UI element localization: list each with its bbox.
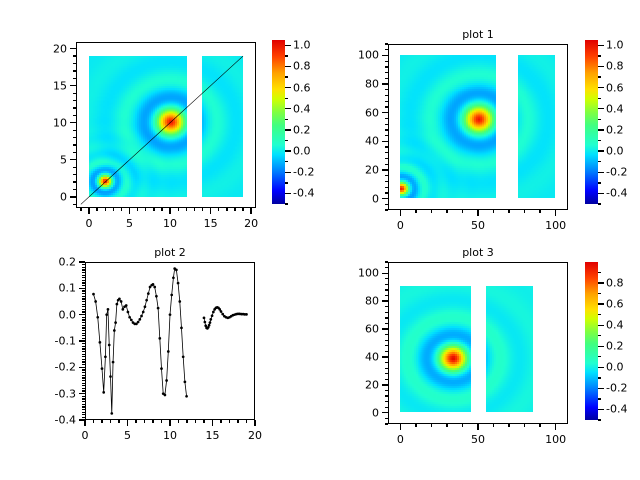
xtick-minor-bottom_right: [462, 424, 463, 427]
ytick-minor-bottom_left: [82, 301, 85, 302]
ytick-major-top_left: [70, 122, 76, 123]
ytick-minor-top_left: [73, 107, 76, 108]
xtick-major-bottom_left: [254, 420, 255, 426]
ytick-major-top_right: [382, 198, 388, 199]
ytick-minor-top_right: [385, 175, 388, 176]
ytick-minor-top_right: [385, 95, 388, 96]
ytick-minor-top_right: [385, 152, 388, 153]
xtick-label-bottom_left: 15: [206, 429, 220, 442]
axes-frame-bottom_left: [85, 262, 255, 420]
xtick-minor-bottom_right: [415, 424, 416, 427]
ytick-label-bottom_right: 100: [358, 267, 379, 280]
ytick-label-bottom_left: -0.2: [55, 361, 76, 374]
ytick-major-bottom_right: [382, 328, 388, 329]
ytick-minor-top_right: [385, 135, 388, 136]
ytick-minor-bottom_left: [82, 383, 85, 384]
ytick-minor-bottom_left: [82, 409, 85, 410]
ytick-minor-top_right: [385, 49, 388, 50]
ytick-minor-top_right: [385, 146, 388, 147]
ytick-minor-bottom_left: [82, 272, 85, 273]
ytick-minor-bottom_right: [385, 295, 388, 296]
xtick-minor-bottom_left: [220, 420, 221, 423]
xtick-minor-top_left: [121, 208, 122, 211]
colorbar-tick-minor-bottom_right: [598, 398, 601, 399]
ytick-label-bottom_left: -0.4: [55, 414, 76, 427]
ytick-major-top_left: [70, 159, 76, 160]
ytick-label-bottom_right: 40: [365, 350, 379, 363]
ytick-minor-top_left: [73, 204, 76, 205]
ytick-minor-top_right: [385, 158, 388, 159]
ytick-minor-bottom_left: [82, 385, 85, 386]
colorbar-tick-top_left: [285, 150, 291, 151]
ytick-minor-top_left: [73, 152, 76, 153]
xtick-minor-bottom_right: [539, 424, 540, 427]
image-block-top_left: [202, 56, 243, 197]
ytick-label-top_left: 15: [53, 79, 67, 92]
panel-title-bottom_left: plot 2: [85, 246, 255, 259]
ytick-minor-bottom_left: [82, 346, 85, 347]
colorbar-tick-bottom_right: [598, 367, 604, 368]
xtick-minor-top_left: [194, 208, 195, 211]
image-block-bottom_right: [486, 286, 533, 412]
pseudocolor-image: [400, 55, 496, 198]
colorbar-tick-minor-top_right: [598, 140, 601, 141]
ytick-minor-bottom_right: [385, 306, 388, 307]
colorbar-tick-minor-top_left: [285, 119, 288, 120]
ytick-minor-top_right: [385, 181, 388, 182]
colorbar-tick-top_left: [285, 129, 291, 130]
xtick-label-top_right: 50: [471, 219, 485, 232]
xtick-minor-top_right: [524, 210, 525, 213]
panel-title-bottom_right: plot 3: [388, 246, 568, 259]
ytick-minor-bottom_right: [385, 368, 388, 369]
ytick-minor-bottom_left: [82, 304, 85, 305]
ytick-minor-top_left: [73, 93, 76, 94]
colorbar-label-bottom_right: -0.4: [606, 403, 627, 416]
ytick-major-top_right: [382, 55, 388, 56]
xtick-minor-bottom_left: [144, 420, 145, 423]
ytick-minor-bottom_right: [385, 401, 388, 402]
ytick-minor-bottom_left: [82, 327, 85, 328]
ytick-minor-top_right: [385, 89, 388, 90]
ytick-label-bottom_left: -0.3: [55, 387, 76, 400]
colorbar-label-top_left: -0.2: [293, 166, 314, 179]
colorbar-tick-minor-top_left: [285, 203, 288, 204]
ytick-major-top_right: [382, 83, 388, 84]
ytick-minor-top_left: [73, 55, 76, 56]
xtick-minor-bottom_left: [178, 420, 179, 423]
ytick-label-bottom_right: 0: [372, 406, 379, 419]
colorbar-tick-top_left: [285, 66, 291, 67]
xtick-major-top_left: [169, 208, 170, 214]
ytick-label-top_right: 100: [358, 49, 379, 62]
colorbar-label-top_left: 0.8: [293, 60, 311, 73]
colorbar-tick-top_left: [285, 108, 291, 109]
ytick-minor-bottom_right: [385, 390, 388, 391]
colorbar-label-bottom_right: 0.2: [606, 340, 624, 353]
xtick-minor-top_left: [145, 208, 146, 211]
ytick-minor-top_left: [73, 130, 76, 131]
colorbar-tick-top_right: [598, 193, 604, 194]
ytick-minor-top_right: [385, 101, 388, 102]
colorbar-tick-top_right: [598, 129, 604, 130]
xtick-minor-bottom_left: [237, 420, 238, 423]
ytick-minor-top_right: [385, 43, 388, 44]
xtick-minor-top_right: [462, 210, 463, 213]
ytick-minor-bottom_left: [82, 359, 85, 360]
colorbar-tick-top_left: [285, 87, 291, 88]
colorbar-tick-top_left: [285, 172, 291, 173]
colorbar-tick-minor-bottom_right: [598, 356, 601, 357]
ytick-minor-bottom_left: [82, 280, 85, 281]
xtick-minor-top_right: [493, 210, 494, 213]
xtick-minor-bottom_left: [161, 420, 162, 423]
xtick-major-top_right: [400, 210, 401, 216]
colorbar-tick-bottom_right: [598, 303, 604, 304]
colorbar-tick-minor-top_left: [285, 76, 288, 77]
xtick-minor-bottom_left: [152, 420, 153, 423]
ytick-label-bottom_right: 20: [365, 378, 379, 391]
ytick-minor-top_right: [385, 72, 388, 73]
ytick-minor-bottom_right: [385, 423, 388, 424]
ytick-minor-bottom_left: [82, 309, 85, 310]
pseudocolor-image: [400, 286, 471, 412]
ytick-minor-bottom_left: [82, 398, 85, 399]
colorbar-label-top_right: 1.0: [606, 39, 624, 52]
ytick-major-top_left: [70, 48, 76, 49]
colorbar-tick-bottom_right: [598, 409, 604, 410]
colorbar-tick-minor-top_right: [598, 203, 601, 204]
colorbar-tick-bottom_right: [598, 325, 604, 326]
colorbar-label-top_right: 0.8: [606, 60, 624, 73]
colorbar-tick-minor-bottom_right: [598, 335, 601, 336]
ytick-minor-bottom_left: [82, 401, 85, 402]
colorbar-label-bottom_right: 0.0: [606, 361, 624, 374]
ytick-label-top_left: 0: [60, 190, 67, 203]
colorbar-tick-top_right: [598, 172, 604, 173]
ytick-minor-top_left: [73, 174, 76, 175]
xtick-minor-top_left: [113, 208, 114, 211]
xtick-minor-bottom_left: [101, 420, 102, 423]
colorbar-tick-minor-bottom_right: [598, 377, 601, 378]
xtick-minor-top_left: [137, 208, 138, 211]
colorbar-tick-minor-bottom_right: [598, 272, 601, 273]
xtick-label-bottom_left: 5: [124, 429, 131, 442]
ytick-minor-top_left: [73, 167, 76, 168]
ytick-minor-bottom_left: [82, 377, 85, 378]
ytick-minor-bottom_left: [82, 317, 85, 318]
xtick-minor-bottom_right: [508, 424, 509, 427]
xtick-label-top_left: 20: [244, 217, 258, 230]
xtick-minor-top_left: [96, 208, 97, 211]
xtick-minor-top_right: [539, 210, 540, 213]
colorbar-label-bottom_right: 0.8: [606, 277, 624, 290]
colorbar-tick-top_left: [285, 45, 291, 46]
colorbar-label-top_left: 1.0: [293, 39, 311, 52]
colorbar-tick-minor-top_right: [598, 98, 601, 99]
ytick-minor-top_right: [385, 187, 388, 188]
colorbar-tick-minor-top_left: [285, 98, 288, 99]
xtick-minor-bottom_right: [446, 424, 447, 427]
xtick-major-bottom_left: [212, 420, 213, 426]
pseudocolor-image: [486, 286, 533, 412]
ytick-minor-bottom_left: [82, 338, 85, 339]
ytick-minor-bottom_left: [82, 298, 85, 299]
ytick-minor-bottom_left: [82, 293, 85, 294]
xtick-label-bottom_left: 0: [82, 429, 89, 442]
ytick-label-top_right: 40: [365, 135, 379, 148]
colorbar-top_right: [585, 40, 598, 204]
ytick-minor-bottom_right: [385, 323, 388, 324]
ytick-label-bottom_left: -0.1: [55, 335, 76, 348]
colorbar-tick-bottom_right: [598, 346, 604, 347]
ytick-minor-bottom_left: [82, 277, 85, 278]
ytick-minor-bottom_right: [385, 340, 388, 341]
xtick-label-top_left: 15: [204, 217, 218, 230]
ytick-label-bottom_right: 60: [365, 323, 379, 336]
colorbar-label-top_right: 0.2: [606, 123, 624, 136]
ytick-minor-bottom_right: [385, 267, 388, 268]
colorbar-tick-minor-top_left: [285, 161, 288, 162]
xtick-minor-bottom_left: [135, 420, 136, 423]
ytick-minor-bottom_left: [82, 269, 85, 270]
ytick-minor-bottom_right: [385, 289, 388, 290]
ytick-minor-bottom_left: [82, 330, 85, 331]
ytick-minor-bottom_left: [82, 311, 85, 312]
xtick-major-top_left: [129, 208, 130, 214]
xtick-major-top_left: [88, 208, 89, 214]
ytick-major-bottom_right: [382, 384, 388, 385]
ytick-minor-top_left: [73, 70, 76, 71]
ytick-minor-top_right: [385, 192, 388, 193]
ytick-label-top_right: 80: [365, 78, 379, 91]
ytick-minor-bottom_left: [82, 354, 85, 355]
xtick-minor-top_left: [202, 208, 203, 211]
ytick-label-bottom_left: 0.2: [59, 256, 77, 269]
colorbar-tick-minor-top_left: [285, 55, 288, 56]
xtick-major-bottom_left: [127, 420, 128, 426]
colorbar-bottom_right: [585, 262, 598, 420]
colorbar-tick-minor-top_right: [598, 182, 601, 183]
xtick-minor-top_left: [218, 208, 219, 211]
ytick-minor-bottom_right: [385, 379, 388, 380]
ytick-major-bottom_left: [79, 367, 85, 368]
xtick-major-top_left: [210, 208, 211, 214]
xtick-minor-bottom_left: [186, 420, 187, 423]
xtick-minor-top_right: [431, 210, 432, 213]
ytick-minor-bottom_right: [385, 317, 388, 318]
ytick-minor-bottom_right: [385, 278, 388, 279]
xtick-minor-top_right: [508, 210, 509, 213]
colorbar-tick-minor-bottom_right: [598, 419, 601, 420]
ytick-minor-bottom_left: [82, 282, 85, 283]
ytick-minor-bottom_left: [82, 364, 85, 365]
ytick-minor-bottom_left: [82, 393, 85, 394]
ytick-major-bottom_right: [382, 300, 388, 301]
ytick-minor-bottom_right: [385, 351, 388, 352]
ytick-minor-bottom_left: [82, 380, 85, 381]
ytick-minor-bottom_left: [82, 333, 85, 334]
ytick-minor-bottom_right: [385, 373, 388, 374]
ytick-label-top_left: 5: [60, 153, 67, 166]
xtick-major-top_left: [250, 208, 251, 214]
ytick-minor-bottom_right: [385, 312, 388, 313]
xtick-major-top_right: [477, 210, 478, 216]
colorbar-tick-top_right: [598, 108, 604, 109]
ytick-minor-bottom_left: [82, 417, 85, 418]
ytick-minor-top_left: [73, 189, 76, 190]
colorbar-label-top_right: -0.2: [606, 166, 627, 179]
colorbar-tick-minor-top_right: [598, 55, 601, 56]
ytick-label-top_right: 20: [365, 163, 379, 176]
ytick-minor-top_left: [73, 63, 76, 64]
ytick-minor-top_left: [73, 144, 76, 145]
ytick-minor-bottom_left: [82, 290, 85, 291]
ytick-minor-bottom_right: [385, 345, 388, 346]
xtick-minor-top_left: [226, 208, 227, 211]
xtick-major-bottom_left: [84, 420, 85, 426]
ytick-major-bottom_left: [79, 261, 85, 262]
xtick-minor-top_left: [186, 208, 187, 211]
xtick-minor-bottom_left: [229, 420, 230, 423]
ytick-minor-bottom_left: [82, 372, 85, 373]
colorbar-tick-minor-top_left: [285, 140, 288, 141]
xtick-minor-top_right: [446, 210, 447, 213]
colorbar-label-top_left: 0.4: [293, 102, 311, 115]
ytick-minor-top_left: [73, 78, 76, 79]
ytick-minor-bottom_left: [82, 348, 85, 349]
ytick-minor-bottom_right: [385, 395, 388, 396]
ytick-minor-top_right: [385, 129, 388, 130]
ytick-minor-bottom_left: [82, 414, 85, 415]
xtick-label-bottom_left: 20: [248, 429, 262, 442]
xtick-minor-bottom_left: [118, 420, 119, 423]
colorbar-tick-minor-top_right: [598, 161, 601, 162]
ytick-label-top_right: 60: [365, 106, 379, 119]
ytick-minor-top_right: [385, 106, 388, 107]
colorbar-tick-minor-top_right: [598, 119, 601, 120]
ytick-major-bottom_right: [382, 412, 388, 413]
colorbar-tick-minor-top_right: [598, 76, 601, 77]
ytick-minor-bottom_left: [82, 322, 85, 323]
colorbar-label-top_right: -0.4: [606, 187, 627, 200]
colorbar-tick-bottom_right: [598, 282, 604, 283]
colorbar-tick-top_left: [285, 193, 291, 194]
colorbar-label-bottom_right: -0.2: [606, 382, 627, 395]
xtick-label-top_right: 100: [545, 219, 566, 232]
ytick-minor-bottom_left: [82, 412, 85, 413]
ytick-minor-bottom_left: [82, 356, 85, 357]
xtick-minor-top_left: [105, 208, 106, 211]
xtick-minor-top_left: [234, 208, 235, 211]
xtick-minor-bottom_left: [110, 420, 111, 423]
xtick-label-top_right: 0: [397, 219, 404, 232]
colorbar-label-top_right: 0.0: [606, 145, 624, 158]
ytick-minor-bottom_left: [82, 396, 85, 397]
ytick-minor-bottom_left: [82, 404, 85, 405]
xtick-minor-top_left: [242, 208, 243, 211]
ytick-major-top_right: [382, 169, 388, 170]
ytick-minor-bottom_left: [82, 343, 85, 344]
ytick-major-top_right: [382, 141, 388, 142]
ytick-minor-bottom_right: [385, 418, 388, 419]
image-block-top_right: [400, 55, 496, 198]
colorbar-tick-top_right: [598, 150, 604, 151]
colorbar-label-top_left: 0.2: [293, 123, 311, 136]
xtick-major-bottom_right: [400, 424, 401, 430]
ytick-major-top_right: [382, 112, 388, 113]
xtick-minor-top_left: [153, 208, 154, 211]
xtick-minor-top_left: [178, 208, 179, 211]
xtick-minor-top_left: [161, 208, 162, 211]
colorbar-label-top_left: 0.6: [293, 81, 311, 94]
colorbar-tick-bottom_right: [598, 388, 604, 389]
colorbar-tick-minor-top_left: [285, 182, 288, 183]
xtick-minor-bottom_left: [93, 420, 94, 423]
ytick-label-top_right: 0: [372, 192, 379, 205]
xtick-label-bottom_left: 10: [163, 429, 177, 442]
xtick-major-bottom_right: [555, 424, 556, 430]
ytick-minor-bottom_right: [385, 407, 388, 408]
ytick-label-top_left: 20: [53, 42, 67, 55]
ytick-major-bottom_left: [79, 340, 85, 341]
colorbar-label-top_right: 0.6: [606, 81, 624, 94]
xtick-minor-bottom_right: [524, 424, 525, 427]
ytick-minor-bottom_left: [82, 390, 85, 391]
colorbar-tick-top_right: [598, 66, 604, 67]
colorbar-tick-top_right: [598, 45, 604, 46]
xtick-label-bottom_right: 50: [471, 433, 485, 446]
ytick-minor-bottom_right: [385, 261, 388, 262]
ytick-major-top_left: [70, 85, 76, 86]
ytick-minor-bottom_right: [385, 334, 388, 335]
ytick-minor-top_left: [73, 115, 76, 116]
xtick-minor-top_right: [415, 210, 416, 213]
ytick-label-bottom_left: 0.0: [59, 308, 77, 321]
xtick-minor-bottom_right: [493, 424, 494, 427]
ytick-minor-bottom_right: [385, 362, 388, 363]
ytick-major-bottom_left: [79, 288, 85, 289]
ytick-major-top_left: [70, 196, 76, 197]
ytick-major-bottom_right: [382, 356, 388, 357]
xtick-label-bottom_right: 0: [397, 433, 404, 446]
ytick-minor-bottom_left: [82, 351, 85, 352]
pseudocolor-image: [518, 55, 555, 198]
colorbar-label-top_right: 0.4: [606, 102, 624, 115]
ytick-minor-top_right: [385, 204, 388, 205]
ytick-minor-top_right: [385, 78, 388, 79]
ytick-minor-bottom_left: [82, 275, 85, 276]
xtick-label-bottom_right: 100: [545, 433, 566, 446]
ytick-minor-top_left: [73, 100, 76, 101]
ytick-minor-bottom_right: [385, 284, 388, 285]
ytick-minor-bottom_left: [82, 369, 85, 370]
image-block-top_right: [518, 55, 555, 198]
ytick-major-bottom_left: [79, 314, 85, 315]
colorbar-tick-minor-bottom_right: [598, 314, 601, 315]
ytick-minor-top_right: [385, 118, 388, 119]
ytick-minor-bottom_left: [82, 375, 85, 376]
ytick-minor-top_right: [385, 124, 388, 125]
ytick-label-top_left: 10: [53, 116, 67, 129]
ytick-label-bottom_right: 80: [365, 295, 379, 308]
colorbar-tick-minor-bottom_right: [598, 293, 601, 294]
ytick-minor-bottom_left: [82, 306, 85, 307]
xtick-minor-bottom_left: [203, 420, 204, 423]
xtick-label-top_left: 0: [85, 217, 92, 230]
ytick-minor-top_right: [385, 61, 388, 62]
ytick-minor-bottom_left: [82, 406, 85, 407]
